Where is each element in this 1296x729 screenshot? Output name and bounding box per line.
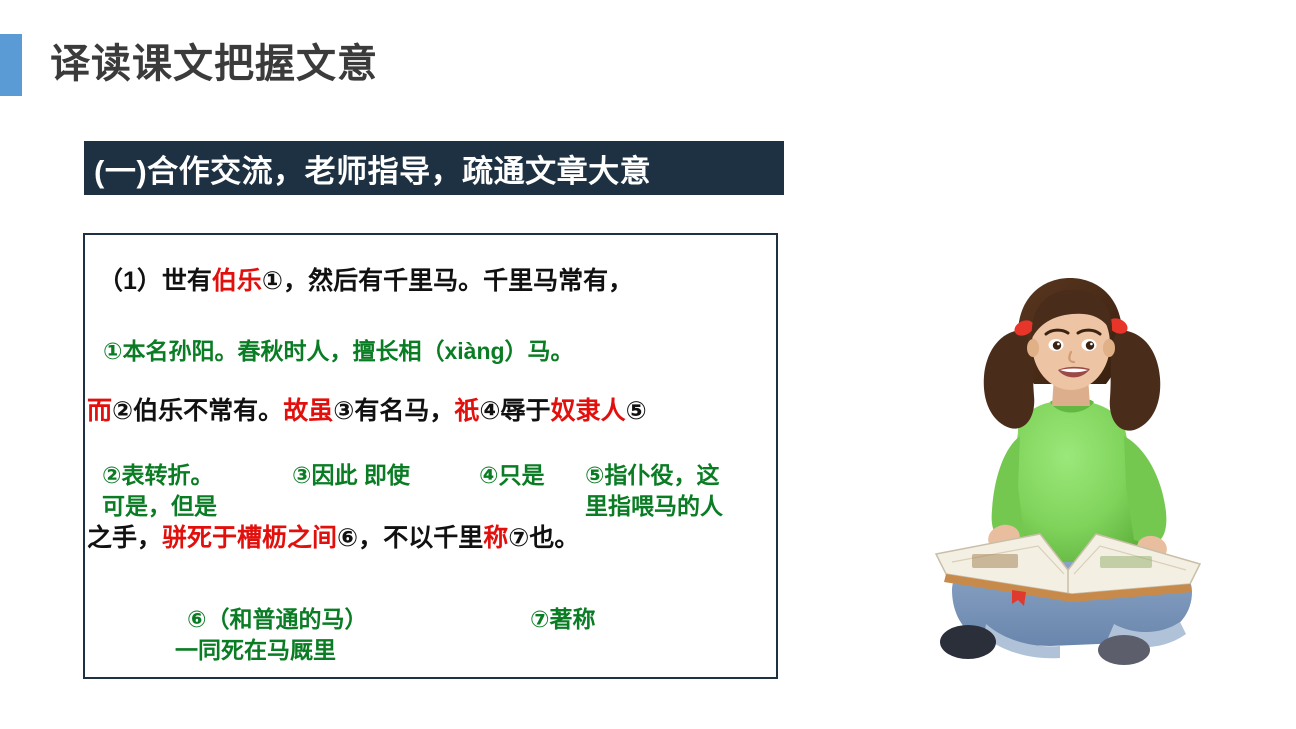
line2-mid-2: ③有名马，: [333, 397, 454, 425]
passage-content-box: （1）世有伯乐①，然后有千里马。千里马常有， ①本名孙阳。春秋时人，擅长相（xi…: [83, 233, 778, 679]
note-6-line-1: ⑥（和普通的马）: [187, 604, 367, 634]
note-6-line-2: 一同死在马厩里: [175, 635, 336, 665]
girl-reading-book-photo: [900, 272, 1240, 692]
passage-line-1: （1）世有伯乐①，然后有千里马。千里马常有，: [98, 266, 633, 296]
section-banner: (一)合作交流，老师指导，疏通文章大意: [84, 141, 784, 195]
passage-line-2: 而②伯乐不常有。故虽③有名马，祇④辱于奴隶人⑤: [87, 396, 647, 426]
note-2-line-2: 可是，但是: [102, 491, 217, 521]
line3-mid-1: ⑥，不以千里: [337, 524, 483, 552]
note-1: ①本名孙阳。春秋时人，擅长相（xiàng）马。: [103, 336, 574, 366]
note-2-line-1: ②表转折。: [102, 460, 213, 490]
section-banner-label: (一)合作交流，老师指导，疏通文章大意: [84, 146, 651, 191]
note-5-line-2: 里指喂马的人: [585, 491, 723, 521]
note-3: ③因此 即使: [292, 460, 410, 490]
line1-prefix: （1）世有: [98, 267, 212, 295]
line3-suffix: ⑦也。: [508, 524, 579, 552]
line2-mid-1: ②伯乐不常有。: [112, 397, 283, 425]
line2-keyword-zhi: 祇: [454, 397, 479, 425]
line3-keyword-cheng: 称: [483, 524, 508, 552]
note-5-line-1: ⑤指仆役，这: [585, 460, 719, 490]
line2-keyword-nulixiren: 奴隶人: [551, 397, 626, 425]
line1-keyword-bole: 伯乐: [212, 267, 262, 295]
slide-root: 译读课文把握文意 (一)合作交流，老师指导，疏通文章大意 （1）世有伯乐①，然后…: [0, 0, 1296, 729]
line2-keyword-gusui: 故虽: [283, 397, 333, 425]
line3-keyword-piansi: 骈死于槽枥之间: [162, 524, 337, 552]
line2-mid-4: ⑤: [626, 397, 647, 425]
note-7: ⑦著称: [530, 604, 595, 634]
line3-prefix: 之手，: [87, 524, 162, 552]
note-4: ④只是: [479, 460, 544, 490]
line1-rest: ①，然后有千里马。千里马常有，: [262, 267, 633, 295]
title-accent-bar: [0, 34, 22, 96]
page-title: 译读课文把握文意: [50, 36, 378, 92]
line2-mid-3: ④辱于: [479, 397, 550, 425]
line2-keyword-er: 而: [87, 397, 112, 425]
passage-line-3: 之手，骈死于槽枥之间⑥，不以千里称⑦也。: [87, 523, 579, 553]
